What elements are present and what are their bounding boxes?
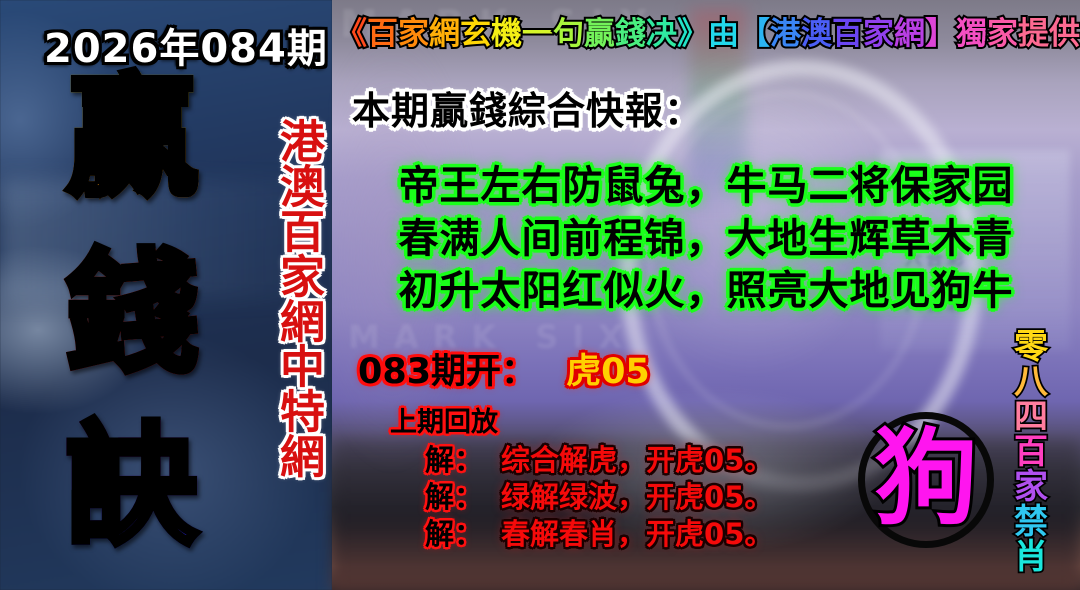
replay-row-key: 解： <box>425 443 483 477</box>
banner-char: 家 <box>987 8 1018 53</box>
replay-row: 解：春解春肖，开虎05。 <box>425 511 773 553</box>
banner-char: 網 <box>894 8 925 53</box>
banner-char: 港 <box>770 8 801 53</box>
replay-heading: 上期回放 <box>390 400 498 439</box>
banner-char: 澳 <box>801 8 832 53</box>
banner-char: 《 <box>336 8 367 53</box>
banner-char: 機 <box>491 8 522 53</box>
logo-char-win: 贏 <box>48 72 216 204</box>
logo-char-secret: 訣 <box>48 420 216 552</box>
poem-line-1: 帝王左右防鼠兔，牛马二将保家园 <box>332 153 1080 211</box>
replay-row-value: 春解春肖，开虎05。 <box>501 517 773 551</box>
banner-char: 家 <box>863 8 894 53</box>
banner-char: 由 <box>708 8 739 53</box>
right-column-char: 家 <box>1014 470 1048 505</box>
previous-draw-value: 虎05 <box>566 352 650 392</box>
banner-char: 網 <box>429 8 460 53</box>
right-column-char: 禁 <box>1014 505 1048 540</box>
banner-char: 【 <box>739 8 770 53</box>
replay-row-value: 综合解虎，开虎05。 <box>501 443 773 477</box>
logo-char-money: 錢 <box>48 248 216 380</box>
banner-char: 百 <box>832 8 863 53</box>
banner-char: 句 <box>553 8 584 53</box>
banner-char: 贏 <box>584 8 615 53</box>
previous-draw-result: 083期开：虎05 <box>358 343 650 394</box>
right-column-char: 百 <box>1014 435 1048 470</box>
replay-row: 解：绿解绿波，开虎05。 <box>425 474 773 516</box>
site-name-vertical: 港澳百家網中特網 <box>224 88 320 508</box>
banner-char: 玄 <box>460 8 491 53</box>
banner-char: 獨 <box>956 8 987 53</box>
poem-line-3: 初升太阳红似火，照亮大地见狗牛 <box>332 258 1080 316</box>
poem-line-2: 春满人间前程锦，大地生辉草木青 <box>332 206 1080 264</box>
replay-row-value: 绿解绿波，开虎05。 <box>501 480 773 514</box>
section-heading: 本期贏錢綜合快報： <box>352 80 703 135</box>
replay-row-key: 解： <box>425 480 483 514</box>
right-column-char: 八 <box>1014 365 1048 400</box>
banner-char: 供 <box>1049 8 1080 53</box>
right-column-char: 四 <box>1014 400 1048 435</box>
zodiac-badge: 狗 <box>858 412 994 548</box>
previous-draw-label: 083期开： <box>358 352 536 392</box>
replay-row: 解：综合解虎，开虎05。 <box>425 437 773 479</box>
banner-char: 百 <box>367 8 398 53</box>
banner-headline: 《百家網玄機一句贏錢决》由【港澳百家網】獨家提供 <box>336 8 1080 53</box>
banner-char: 家 <box>398 8 429 53</box>
banner-char: 决 <box>646 8 677 53</box>
forbidden-zodiac-column: 零 八 四 百 家 禁 肖 <box>1000 330 1062 575</box>
banner-char: 】 <box>925 8 956 53</box>
banner-char: 一 <box>522 8 553 53</box>
zodiac-char: 狗 <box>874 426 978 530</box>
banner-char: 》 <box>677 8 708 53</box>
lottery-poster: MARK SIX MARK SIX 六合彩 六合彩 2026年084期 贏 錢 … <box>0 0 1080 590</box>
banner-char: 錢 <box>615 8 646 53</box>
banner-char: 提 <box>1018 8 1049 53</box>
right-column-char: 零 <box>1014 330 1048 365</box>
right-column-char: 肖 <box>1014 540 1048 575</box>
replay-row-key: 解： <box>425 517 483 551</box>
